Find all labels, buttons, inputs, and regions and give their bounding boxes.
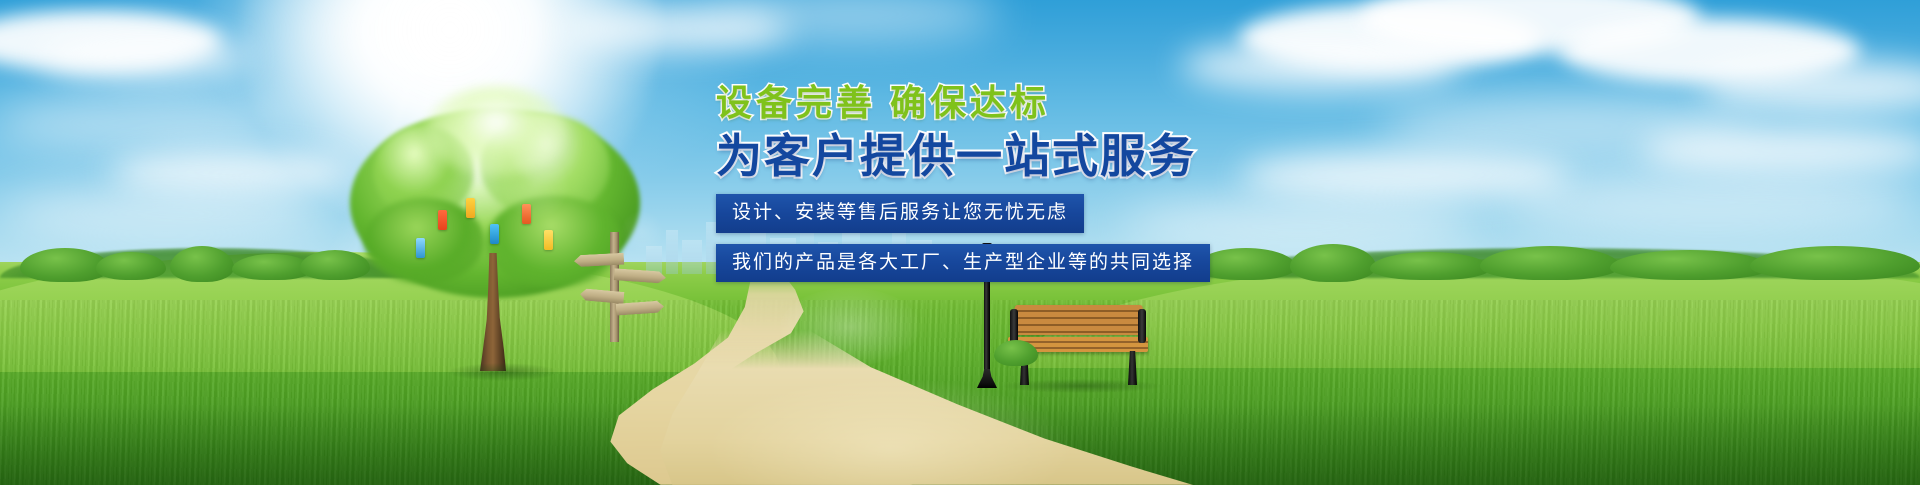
cloud-icon [40, 34, 250, 80]
hanging-card-icon [544, 230, 553, 250]
subline-1: 设计、安装等售后服务让您无忧无虑 [716, 194, 1084, 233]
bench-armrest [1010, 309, 1018, 343]
headline-secondary: 为客户提供一站式服务 [716, 130, 1716, 182]
lens-flare [620, 210, 664, 254]
bench-shadow [1002, 379, 1162, 393]
headline-primary: 设备完善 确保达标 [716, 82, 1716, 124]
hanging-card-icon [466, 198, 475, 218]
hanging-card-icon [490, 224, 499, 244]
hanging-card-icon [416, 238, 425, 258]
bush-icon [1750, 246, 1920, 280]
tree-shadow [448, 363, 558, 381]
bench-backrest [1013, 305, 1143, 335]
bush-icon [96, 252, 166, 280]
banner-copy: 设备完善 确保达标 为客户提供一站式服务 设计、安装等售后服务让您无忧无虑 我们… [716, 82, 1716, 282]
bush-icon [994, 340, 1038, 366]
subline-row-2: 我们的产品是各大工厂、生产型企业等的共同选择 [716, 233, 1716, 283]
signpost-pole [610, 232, 619, 342]
cloud-icon [0, 96, 290, 150]
subline-row-1: 设计、安装等售后服务让您无忧无虑 [716, 183, 1716, 233]
light-halo [780, 288, 920, 366]
path-highlight [560, 268, 1280, 485]
lamp-base [977, 369, 997, 388]
hanging-card-icon [438, 210, 447, 230]
subline-2: 我们的产品是各大工厂、生产型企业等的共同选择 [716, 244, 1210, 283]
bench-armrest [1138, 309, 1146, 343]
bush-icon [170, 246, 234, 282]
signpost-arm [614, 268, 667, 284]
hero-banner: 设备完善 确保达标 为客户提供一站式服务 设计、安装等售后服务让您无忧无虑 我们… [0, 0, 1920, 485]
lens-flare [500, 150, 570, 220]
cloud-icon [0, 186, 330, 242]
